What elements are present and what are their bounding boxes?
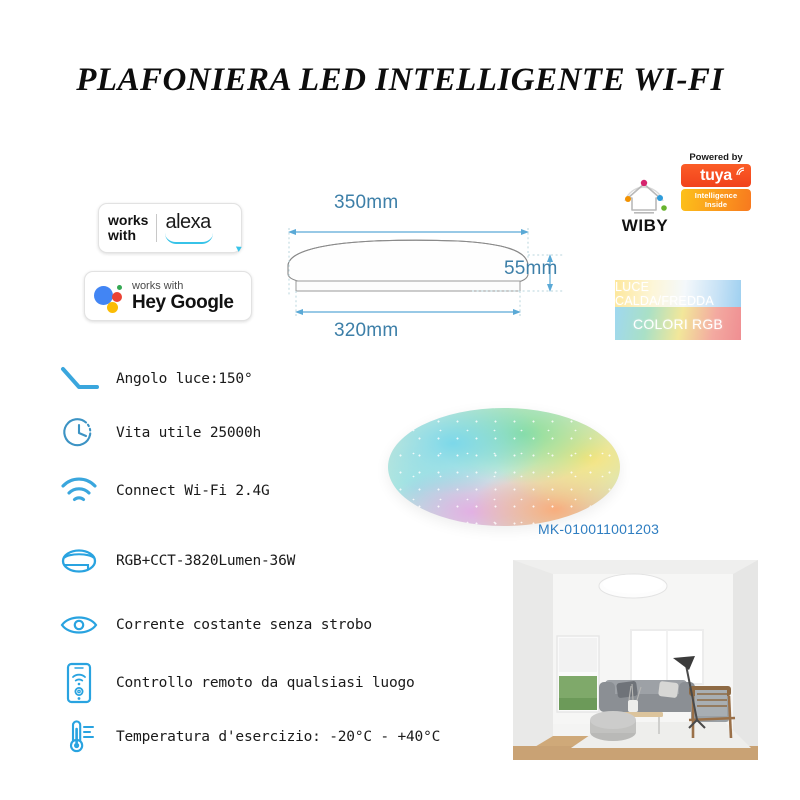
clock-icon bbox=[56, 412, 102, 454]
product-lamp-image bbox=[388, 408, 620, 526]
alexa-wordmark: alexa bbox=[165, 213, 213, 232]
eye-icon bbox=[56, 604, 102, 646]
wiby-logo: WIBY bbox=[612, 152, 678, 234]
swatch-rgb: COLORI RGB bbox=[615, 307, 741, 340]
alexa-logo: alexa bbox=[165, 213, 213, 244]
works-with-alexa-badge: works with alexa bbox=[98, 203, 242, 253]
powered-by-label: Powered by bbox=[681, 152, 751, 163]
works-with-google-badge: works with Hey Google bbox=[84, 271, 252, 321]
powered-by-tuya-badge: Powered by tuya Intelligence Inside bbox=[681, 152, 751, 214]
feature-operating-temperature: Temperatura d'esercizio: -20°C - +40°C bbox=[56, 716, 440, 758]
room-scene-photo bbox=[513, 560, 758, 760]
thermometer-icon bbox=[56, 716, 102, 758]
dimension-diagram: 350mm 55mm 320mm bbox=[282, 192, 590, 352]
tuya-signal-icon bbox=[736, 167, 746, 177]
dimension-bottom-width: 320mm bbox=[334, 320, 398, 342]
swatch-warm-cool-label: LUCE CALDA/FREDDA bbox=[615, 280, 741, 308]
page-title: PLAFONIERA LED INTELLIGENTE WI-FI bbox=[0, 62, 800, 99]
intelligence-inside-label: Intelligence Inside bbox=[681, 189, 751, 211]
feature-no-strobe: Corrente costante senza strobo bbox=[56, 604, 372, 646]
wiby-wordmark: WIBY bbox=[612, 216, 678, 236]
beam-angle-icon bbox=[56, 358, 102, 400]
feature-beam-angle: Angolo luce:150° bbox=[56, 358, 252, 400]
google-badge-text: works with Hey Google bbox=[132, 280, 234, 313]
feature-lifetime: Vita utile 25000h bbox=[56, 412, 261, 454]
tuya-logo: tuya bbox=[681, 164, 751, 187]
dimension-height: 55mm bbox=[504, 258, 558, 280]
model-number: MK-010011001203 bbox=[538, 521, 659, 537]
feature-lumen-watt: RGB+CCT-3820Lumen-36W bbox=[56, 540, 295, 582]
swatch-warm-cool: LUCE CALDA/FREDDA bbox=[615, 280, 741, 307]
smart-home-icon bbox=[620, 178, 668, 216]
living-room-illustration bbox=[513, 560, 758, 760]
ceiling-lamp-icon bbox=[56, 540, 102, 582]
divider bbox=[156, 214, 157, 242]
tuya-wordmark: tuya bbox=[700, 168, 732, 184]
feature-remote-control: Controllo remoto da qualsiasi luogo bbox=[56, 662, 415, 704]
smartphone-app-icon bbox=[56, 662, 102, 704]
product-infographic: PLAFONIERA LED INTELLIGENTE WI-FI works … bbox=[0, 0, 800, 800]
swatch-rgb-label: COLORI RGB bbox=[633, 316, 723, 332]
starry-sparkle-overlay bbox=[388, 408, 620, 526]
dimension-top-width: 350mm bbox=[334, 192, 398, 214]
alexa-smile-icon bbox=[165, 233, 213, 244]
google-assistant-icon bbox=[94, 281, 124, 311]
feature-wifi: Connect Wi-Fi 2.4G bbox=[56, 470, 270, 512]
works-with-label: works with bbox=[108, 213, 148, 243]
wifi-icon bbox=[56, 470, 102, 512]
